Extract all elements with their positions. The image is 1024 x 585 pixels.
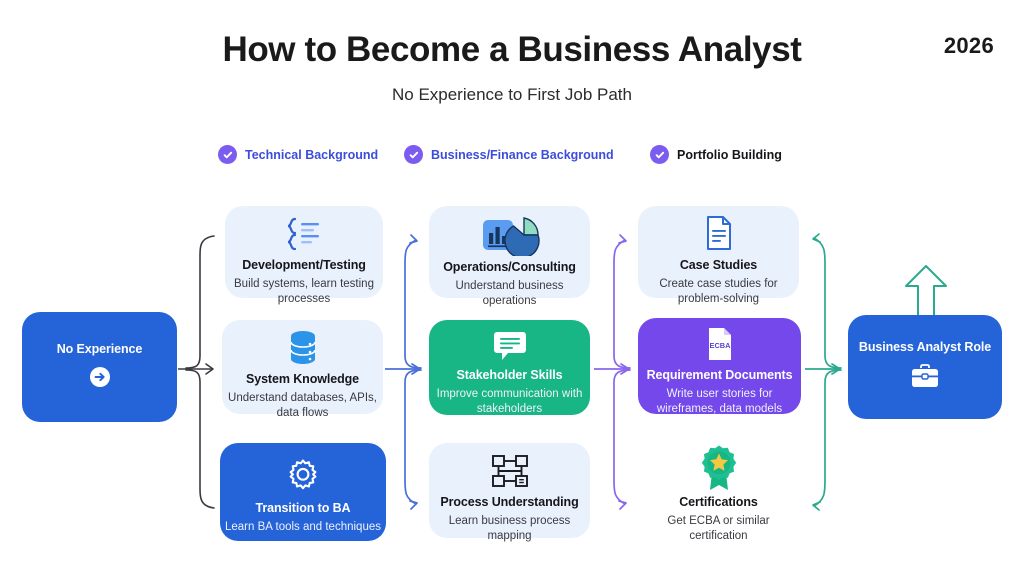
- card-description: Understand databases, APIs, data flows: [222, 391, 383, 423]
- connector-column-2-to-column-3: [594, 232, 642, 512]
- card-description: Learn BA tools and techniques: [225, 520, 381, 536]
- briefcase-icon: [910, 364, 940, 395]
- card-system-knowledge[interactable]: System Knowledge Understand databases, A…: [222, 320, 383, 414]
- card-description: Learn business process mapping: [429, 514, 590, 546]
- column-header-label: Portfolio Building: [677, 148, 782, 162]
- card-title: Transition to BA: [256, 501, 351, 517]
- ecba-icon-text: ECBA: [709, 341, 731, 350]
- card-development-testing[interactable]: Development/Testing Build systems, learn…: [225, 206, 383, 298]
- start-node-no-experience[interactable]: No Experience: [22, 312, 177, 422]
- flowchart-icon: [486, 451, 534, 491]
- column-header-label: Business/Finance Background: [431, 148, 614, 162]
- document-icon: [702, 214, 736, 254]
- check-circle-icon: [404, 145, 423, 164]
- card-description: Write user stories for wireframes, data …: [638, 387, 801, 419]
- check-circle-icon: [650, 145, 669, 164]
- card-title: Stakeholder Skills: [457, 368, 563, 384]
- page-title: How to Become a Business Analyst: [0, 30, 1024, 70]
- card-description: Improve communication with stakeholders: [429, 387, 590, 419]
- speech-bubble-icon: [491, 328, 529, 364]
- card-title: Requirement Documents: [647, 368, 793, 384]
- card-operations-consulting[interactable]: Operations/Consulting Understand busines…: [429, 206, 590, 298]
- gear-icon: [286, 451, 320, 497]
- column-header-technical-background: Technical Background: [218, 145, 378, 164]
- card-description: Create case studies for problem-solving: [638, 277, 799, 309]
- connector-column-3-to-end: [805, 232, 853, 512]
- column-header-business-finance-background: Business/Finance Background: [404, 145, 614, 164]
- card-description: Understand business operations: [429, 279, 590, 311]
- bar-chart-pie-chart-icon: [479, 214, 541, 256]
- column-header-label: Technical Background: [245, 148, 378, 162]
- infographic-canvas: How to Become a Business Analyst No Expe…: [0, 0, 1024, 585]
- card-title: Certifications: [679, 495, 757, 511]
- column-header-portfolio-building: Portfolio Building: [650, 145, 782, 164]
- page-subtitle: No Experience to First Job Path: [0, 85, 1024, 105]
- ecba-document-icon: ECBA: [704, 326, 736, 364]
- award-badge-icon: [697, 445, 741, 491]
- code-braces-icon: [281, 214, 327, 254]
- card-process-understanding[interactable]: Process Understanding Learn business pro…: [429, 443, 590, 538]
- arrow-right-circle-icon: [89, 366, 111, 393]
- card-title: Case Studies: [680, 258, 757, 274]
- card-title: System Knowledge: [246, 372, 359, 388]
- start-node-label: No Experience: [57, 342, 143, 356]
- card-case-studies[interactable]: Case Studies Create case studies for pro…: [638, 206, 799, 298]
- card-title: Operations/Consulting: [443, 260, 576, 276]
- year-label: 2026: [944, 33, 994, 59]
- card-transition-to-ba[interactable]: Transition to BA Learn BA tools and tech…: [220, 443, 386, 541]
- check-circle-icon: [218, 145, 237, 164]
- database-icon: [286, 328, 320, 368]
- connector-column-1-to-column-2: [385, 232, 433, 512]
- card-description: Get ECBA or similar certification: [638, 514, 799, 546]
- end-node-business-analyst-role[interactable]: Business Analyst Role: [848, 315, 1002, 419]
- card-title: Process Understanding: [440, 495, 578, 511]
- card-stakeholder-skills[interactable]: Stakeholder Skills Improve communication…: [429, 320, 590, 415]
- card-description: Build systems, learn testing processes: [225, 277, 383, 309]
- card-title: Development/Testing: [242, 258, 366, 274]
- card-requirement-documents[interactable]: ECBA Requirement Documents Write user st…: [638, 318, 801, 414]
- end-node-up-arrow-icon: [898, 260, 954, 320]
- card-certifications[interactable]: Certifications Get ECBA or similar certi…: [638, 437, 799, 537]
- end-node-label: Business Analyst Role: [859, 340, 991, 354]
- connector-start-to-column-1: [178, 232, 226, 512]
